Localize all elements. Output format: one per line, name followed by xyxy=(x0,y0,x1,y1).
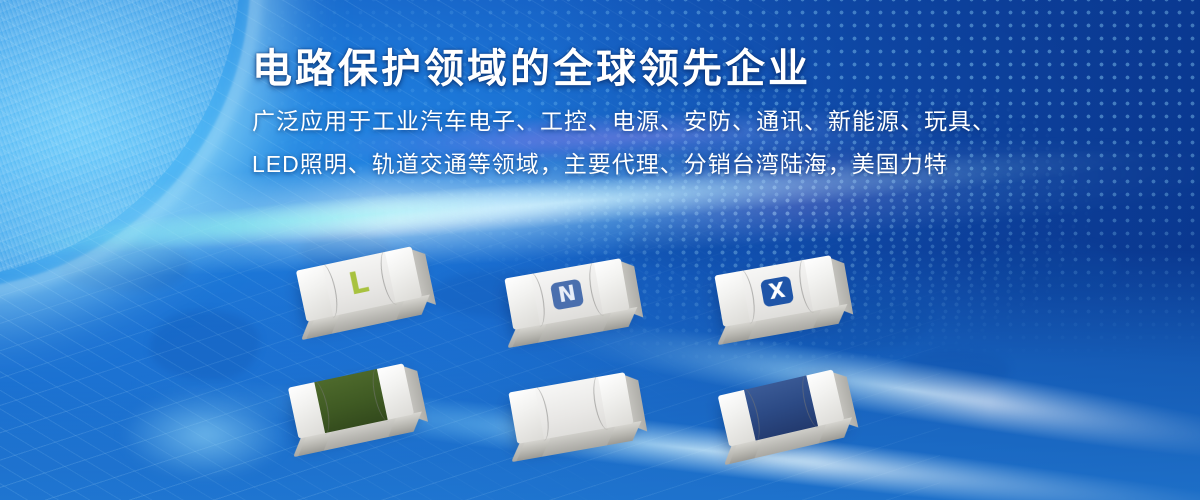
chip-body xyxy=(718,369,845,446)
chip-marking-badge: N xyxy=(550,278,584,310)
chip-body xyxy=(508,372,633,444)
chip-body: N xyxy=(504,258,629,330)
banner-subtitle-line-2: LED照明、轨道交通等领域，主要代理、分销台湾陆海，美国力特 xyxy=(252,153,1052,176)
chip-body: L xyxy=(296,246,422,321)
product-chip-n[interactable]: N xyxy=(504,258,629,330)
product-chip-plain[interactable] xyxy=(508,372,633,444)
chip-cap-left xyxy=(288,382,325,438)
product-chip-l[interactable]: L xyxy=(296,246,422,321)
chip-body xyxy=(288,363,414,438)
product-chip-x[interactable]: X xyxy=(714,255,839,327)
banner-subtitle-line-1: 广泛应用于工业汽车电子、工控、电源、安防、通讯、新能源、玩具、 xyxy=(252,110,1052,133)
chip-cap-left xyxy=(508,388,544,444)
product-chip-green[interactable] xyxy=(288,363,414,438)
chip-body: X xyxy=(714,255,839,327)
banner-copy: 电路保护领域的全球领先企业 广泛应用于工业汽车电子、工控、电源、安防、通讯、新能… xyxy=(252,46,1052,196)
chip-marking-letter: N xyxy=(557,282,578,306)
chip-marking-letter: X xyxy=(767,279,787,302)
chip-marking-badge: X xyxy=(760,275,794,307)
product-chip-blue[interactable] xyxy=(718,369,845,446)
promo-banner: 电路保护领域的全球领先企业 广泛应用于工业汽车电子、工控、电源、安防、通讯、新能… xyxy=(0,0,1200,500)
banner-headline: 电路保护领域的全球领先企业 xyxy=(252,46,1052,92)
chip-marking-letter: L xyxy=(347,267,372,300)
chip-cap-left xyxy=(718,390,756,447)
